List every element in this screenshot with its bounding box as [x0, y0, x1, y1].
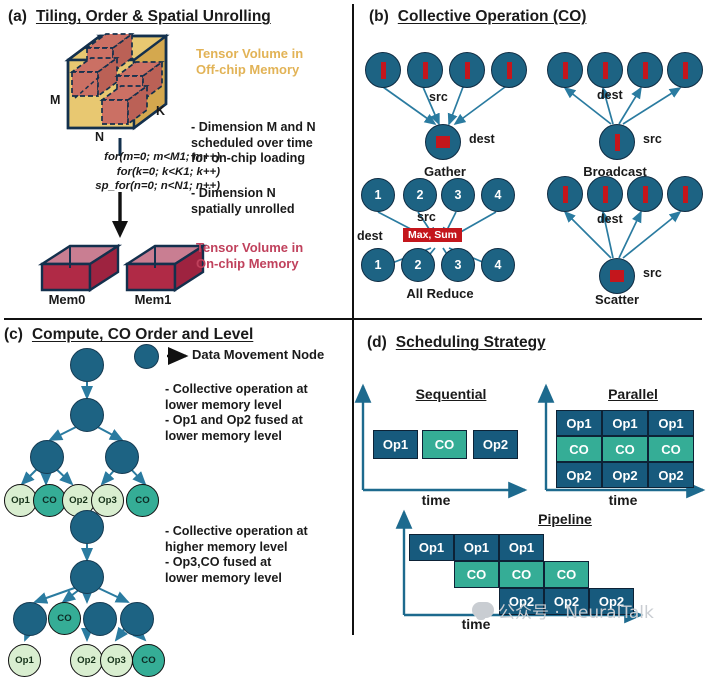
tree2-level2-node: [70, 560, 104, 594]
bullet-dimension-n: - Dimension N spatially unrolled: [191, 186, 351, 217]
tree2-level3-node-3: [83, 602, 117, 636]
payload-bar: [603, 186, 608, 203]
gather-src-node-4: [491, 52, 527, 88]
payload-bar: [615, 134, 620, 151]
pipeline-cell-r0c1: Op1: [454, 534, 499, 561]
loop-code: for(m=0; m<M1; m++) for(k=0; k<K1; k++) …: [8, 150, 220, 194]
payload-bar: [643, 62, 648, 79]
payload-bar: [683, 62, 688, 79]
bullet-dimension-mn: - Dimension M and N scheduled over time …: [191, 120, 351, 167]
mem1-label: Mem1: [118, 292, 188, 307]
wechat-icon: [472, 602, 494, 618]
allreduce-src-node-3: 3: [441, 178, 475, 212]
allreduce-dest-node-2: 2: [401, 248, 435, 282]
tree1-level3-node-right: [105, 440, 139, 474]
tree2-notes: - Collective operation at higher memory …: [165, 524, 355, 586]
allreduce-dest-node-4: 4: [481, 248, 515, 282]
allreduce-dest-node-1: 1: [361, 248, 395, 282]
scatter-dest-node-2: [587, 176, 623, 212]
allreduce-dest-node-3: 3: [441, 248, 475, 282]
tree2-root-node: [70, 510, 104, 544]
payload-bar: [465, 62, 470, 79]
mem0-label: Mem0: [32, 292, 102, 307]
broadcast-dest-node-1: [547, 52, 583, 88]
panel-d-scheduling-strategy: (d)Scheduling Strategy Sequential Op1 CO…: [353, 320, 706, 639]
tree2-leaf-op2: Op2: [70, 644, 103, 677]
parallel-cell-r2c2: Op2: [648, 462, 694, 488]
payload-bar: [603, 62, 608, 79]
tree1-leaf-co-2: CO: [126, 484, 159, 517]
tree1-notes: - Collective operation at lower memory l…: [165, 382, 355, 444]
payload-bar: [683, 186, 688, 203]
allreduce-src-node-1: 1: [361, 178, 395, 212]
cube-dim-m: M: [50, 93, 60, 107]
allreduce-src-node-2: 2: [403, 178, 437, 212]
parallel-cell-r1c1: CO: [602, 436, 648, 462]
panel-a-tiling: (a)Tiling, Order & Spatial Unrolling: [0, 0, 353, 320]
allreduce-dest-label: dest: [357, 229, 383, 243]
tree2-level3-node-1: [13, 602, 47, 636]
gather-src-node-3: [449, 52, 485, 88]
gather-src-node-2: [407, 52, 443, 88]
allreduce-caption: All Reduce: [375, 286, 505, 301]
parallel-cell-r1c2: CO: [648, 436, 694, 462]
tree2-leaf-op3: Op3: [100, 644, 133, 677]
parallel-cell-r0c2: Op1: [648, 410, 694, 436]
watermark-text: 公众号 · NeuralTalk: [498, 598, 654, 623]
onchip-caption: Tensor Volume in On-chip Memory: [196, 240, 346, 272]
parallel-cell-r2c0: Op2: [556, 462, 602, 488]
gather-src-label: src: [429, 90, 448, 104]
scatter-caption: Scatter: [567, 292, 667, 307]
scatter-dest-node-1: [547, 176, 583, 212]
pipeline-title: Pipeline: [505, 511, 625, 527]
tree1-level2-node: [70, 398, 104, 432]
gather-dest-label: dest: [469, 132, 495, 146]
broadcast-src-node: [599, 124, 635, 160]
scatter-dest-node-3: [627, 176, 663, 212]
gather-caption: Gather: [395, 164, 495, 179]
broadcast-src-label: src: [643, 132, 662, 146]
broadcast-dest-node-4: [667, 52, 703, 88]
pipeline-cell-r1c1: CO: [499, 561, 544, 588]
broadcast-dest-label: dest: [597, 88, 623, 102]
allreduce-src-label: src: [417, 210, 436, 224]
parallel-cell-r0c0: Op1: [556, 410, 602, 436]
sequential-block-op2: Op2: [473, 430, 518, 459]
broadcast-dest-node-2: [587, 52, 623, 88]
sequential-title: Sequential: [381, 386, 521, 402]
legend-data-movement-node: [134, 344, 159, 369]
gather-dest-node: [425, 124, 461, 160]
tree2-leaf-co: CO: [132, 644, 165, 677]
legend-label: Data Movement Node: [192, 347, 324, 362]
sequential-axis-label: time: [391, 492, 481, 508]
pipeline-cell-r1c2: CO: [544, 561, 589, 588]
payload-bar: [563, 62, 568, 79]
payload-square: [610, 270, 624, 282]
tree2-leaf-op1: Op1: [8, 644, 41, 677]
tree2-level3-co: CO: [48, 602, 81, 635]
offchip-caption: Tensor Volume in Off-chip Memory: [196, 46, 346, 78]
scatter-dest-label: dest: [597, 212, 623, 226]
payload-bar: [507, 62, 512, 79]
allreduce-src-node-4: 4: [481, 178, 515, 212]
cube-dim-k: K: [156, 104, 165, 118]
sequential-block-co: CO: [422, 430, 467, 459]
pipeline-cell-r0c0: Op1: [409, 534, 454, 561]
panel-b-collective-operation: (b)Collective Operation (CO): [353, 0, 706, 320]
parallel-cell-r2c1: Op2: [602, 462, 648, 488]
payload-bar: [381, 62, 386, 79]
cube-dim-n: N: [95, 130, 104, 144]
pipeline-cell-r0c2: Op1: [499, 534, 544, 561]
parallel-title: Parallel: [573, 386, 693, 402]
parallel-cell-r1c0: CO: [556, 436, 602, 462]
tree1-root-node: [70, 348, 104, 382]
tree1-level3-node-left: [30, 440, 64, 474]
parallel-cell-r0c1: Op1: [602, 410, 648, 436]
panel-c-compute-order: (c)Compute, CO Order and Level: [0, 320, 353, 639]
gather-src-node-1: [365, 52, 401, 88]
broadcast-dest-node-3: [627, 52, 663, 88]
scatter-dest-node-4: [667, 176, 703, 212]
sequential-block-op1: Op1: [373, 430, 418, 459]
parallel-axis-label: time: [578, 492, 668, 508]
tree-edges: [0, 320, 353, 639]
reduce-operation-box: Max, Sum: [403, 228, 462, 242]
payload-bar: [563, 186, 568, 203]
payload-square: [436, 136, 450, 148]
payload-bar: [643, 186, 648, 203]
payload-bar: [423, 62, 428, 79]
scatter-src-label: src: [643, 266, 662, 280]
scatter-src-node: [599, 258, 635, 294]
tree2-level3-node-4: [120, 602, 154, 636]
pipeline-cell-r1c0: CO: [454, 561, 499, 588]
